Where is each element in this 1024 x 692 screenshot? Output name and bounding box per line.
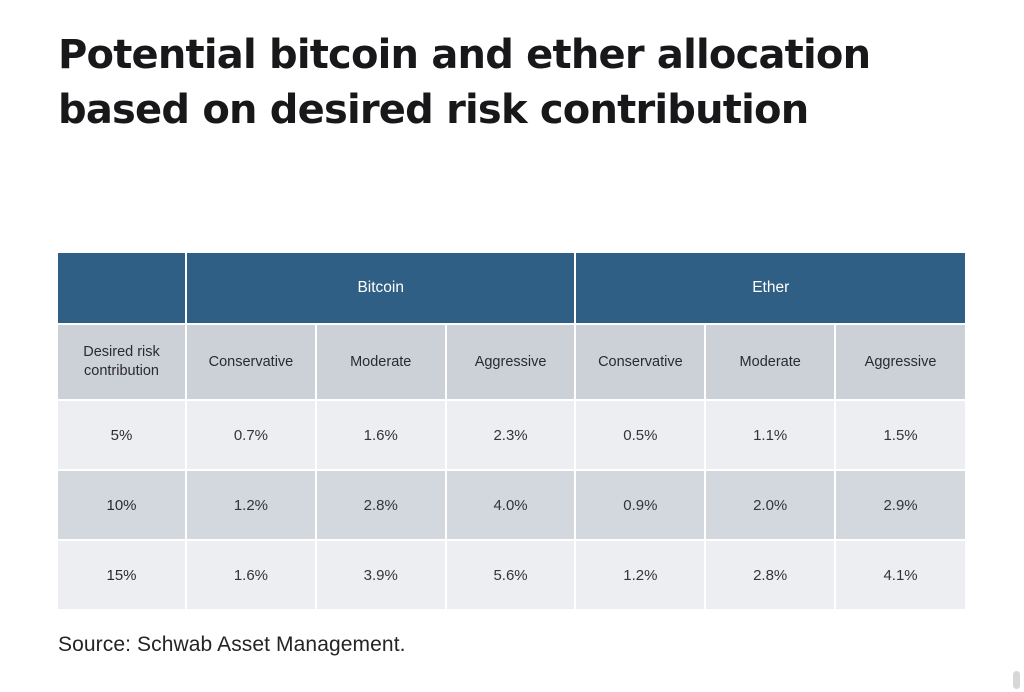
- column-header-ether-aggressive: Aggressive: [835, 324, 965, 400]
- group-header-bitcoin: Bitcoin: [186, 253, 575, 324]
- cell-1-1: 2.8%: [316, 470, 446, 540]
- page-title-line-2: based on desired risk contribution: [58, 83, 918, 138]
- cell-1-4: 2.0%: [705, 470, 835, 540]
- cell-0-4: 1.1%: [705, 400, 835, 470]
- cell-1-0: 1.2%: [186, 470, 316, 540]
- page-root: Potential bitcoin and ether allocation b…: [0, 0, 1024, 692]
- cell-0-0: 0.7%: [186, 400, 316, 470]
- table-body: 5% 0.7% 1.6% 2.3% 0.5% 1.1% 1.5% 10% 1.2…: [58, 400, 965, 609]
- column-header-bitcoin-moderate: Moderate: [316, 324, 446, 400]
- cell-risk-2: 15%: [58, 540, 186, 609]
- cell-2-2: 5.6%: [446, 540, 576, 609]
- column-header-ether-conservative: Conservative: [575, 324, 705, 400]
- cell-risk-1: 10%: [58, 470, 186, 540]
- column-header-bitcoin-conservative: Conservative: [186, 324, 316, 400]
- page-title: Potential bitcoin and ether allocation b…: [58, 28, 918, 138]
- table-row: 15% 1.6% 3.9% 5.6% 1.2% 2.8% 4.1%: [58, 540, 965, 609]
- cell-0-5: 1.5%: [835, 400, 965, 470]
- cell-2-3: 1.2%: [575, 540, 705, 609]
- cell-0-1: 1.6%: [316, 400, 446, 470]
- source-note: Source: Schwab Asset Management.: [58, 633, 406, 657]
- table-row: 10% 1.2% 2.8% 4.0% 0.9% 2.0% 2.9%: [58, 470, 965, 540]
- cell-2-5: 4.1%: [835, 540, 965, 609]
- column-header-desired-risk-contribution: Desired risk contribution: [58, 324, 186, 400]
- table-group-header-row: Bitcoin Ether: [58, 253, 965, 324]
- group-header-blank: [58, 253, 186, 324]
- cell-0-3: 0.5%: [575, 400, 705, 470]
- cell-1-3: 0.9%: [575, 470, 705, 540]
- table-head: Bitcoin Ether Desired risk contribution …: [58, 253, 965, 400]
- cell-1-5: 2.9%: [835, 470, 965, 540]
- group-header-ether: Ether: [575, 253, 965, 324]
- cell-1-2: 4.0%: [446, 470, 576, 540]
- allocation-table-container: Bitcoin Ether Desired risk contribution …: [58, 253, 965, 609]
- cell-2-0: 1.6%: [186, 540, 316, 609]
- table-column-header-row: Desired risk contribution Conservative M…: [58, 324, 965, 400]
- cell-0-2: 2.3%: [446, 400, 576, 470]
- scrollbar-thumb[interactable]: [1013, 671, 1020, 689]
- column-header-ether-moderate: Moderate: [705, 324, 835, 400]
- table-row: 5% 0.7% 1.6% 2.3% 0.5% 1.1% 1.5%: [58, 400, 965, 470]
- column-header-bitcoin-aggressive: Aggressive: [446, 324, 576, 400]
- cell-2-4: 2.8%: [705, 540, 835, 609]
- cell-risk-0: 5%: [58, 400, 186, 470]
- page-title-line-1: Potential bitcoin and ether allocation: [58, 28, 918, 83]
- cell-2-1: 3.9%: [316, 540, 446, 609]
- allocation-table: Bitcoin Ether Desired risk contribution …: [58, 253, 965, 609]
